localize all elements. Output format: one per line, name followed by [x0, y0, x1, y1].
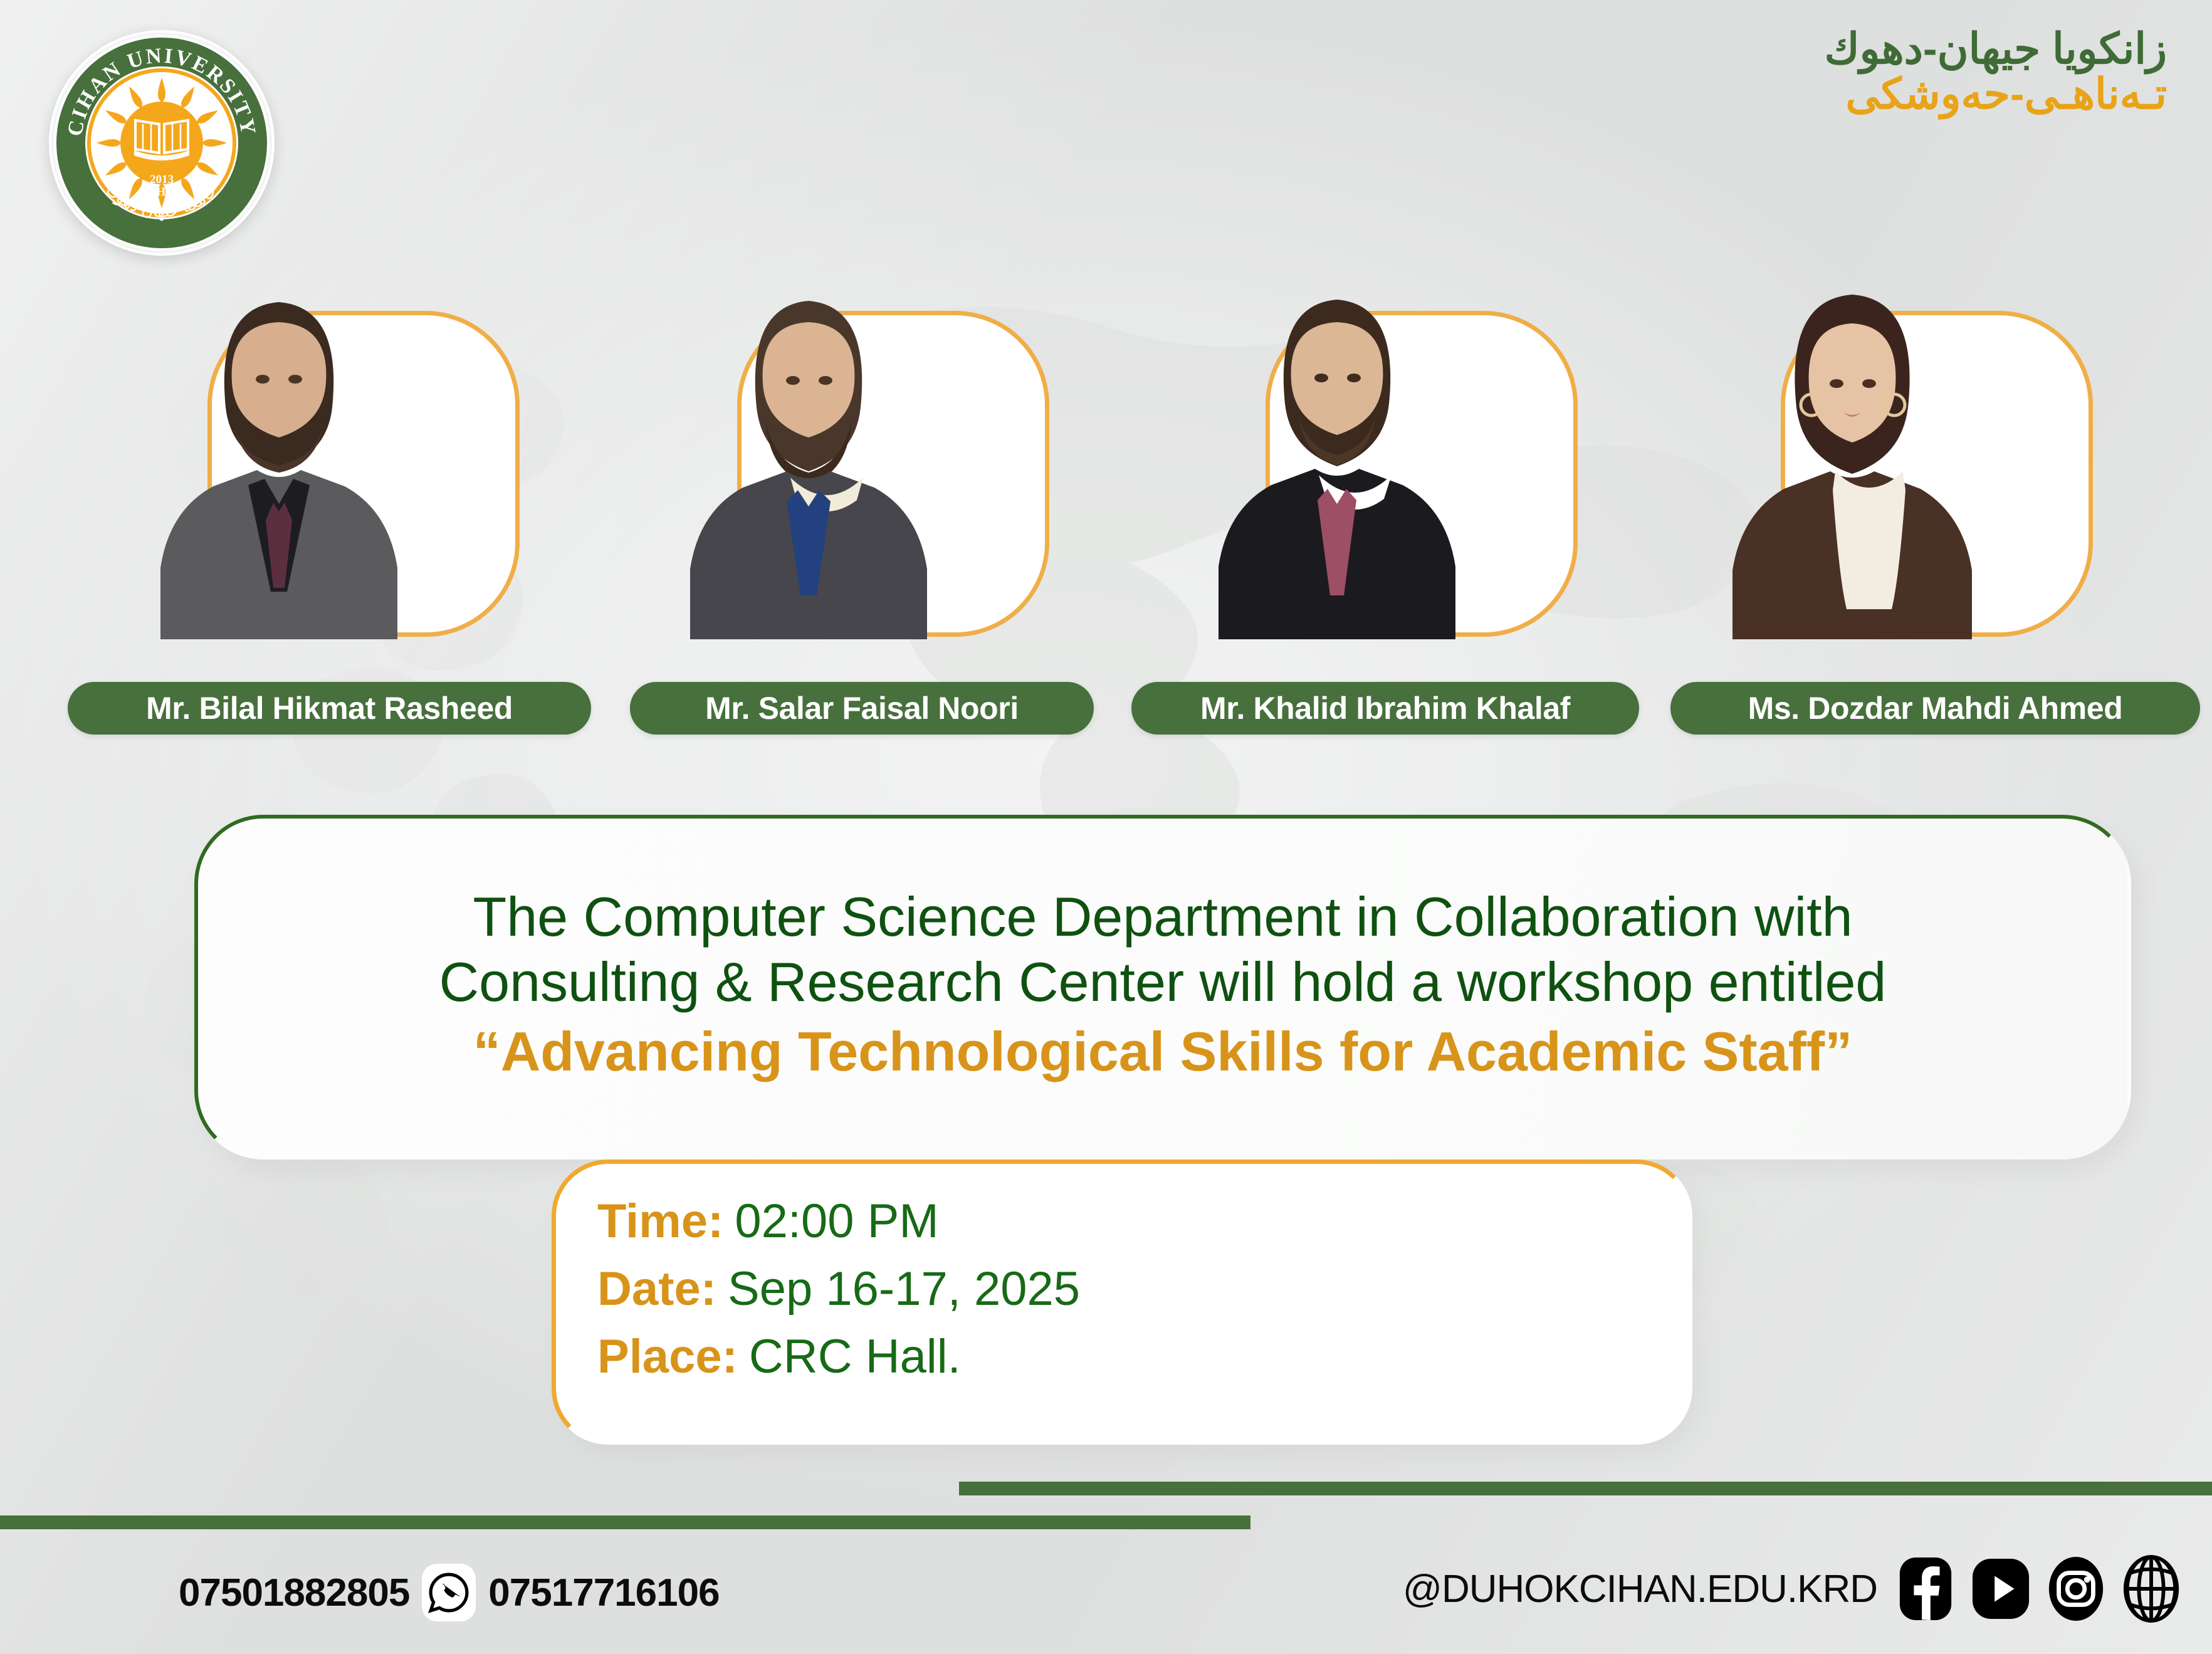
whatsapp-icon[interactable] — [422, 1564, 476, 1621]
speaker-portrait-1 — [119, 251, 608, 746]
event-details-card: Time: 02:00 PM Date: Sep 16-17, 2025 Pla… — [552, 1159, 1692, 1445]
logo-year: 2013 — [150, 173, 174, 186]
kurdish-line-1: زانكويا جيهان-دهوك — [1825, 26, 2167, 71]
phone-number-2[interactable]: 07517716106 — [488, 1571, 719, 1615]
kurdish-line-2: تـەناهـى-حەوشكى — [1825, 71, 2167, 117]
announcement-line-1: The Computer Science Department in Colla… — [473, 884, 1852, 950]
contact-phones: 07501882805 07517716106 — [179, 1564, 720, 1621]
time-label: Time: — [597, 1188, 723, 1255]
workshop-title: “Advancing Technological Skills for Acad… — [473, 1018, 1852, 1085]
detail-row-time: Time: 02:00 PM — [597, 1188, 1688, 1255]
portrait-image-salar — [636, 251, 968, 639]
divider-top-right — [959, 1482, 2212, 1495]
event-poster: CIHAN UNIVERSITY جامعة جيهان دهوك — [0, 0, 2212, 1654]
speaker-name-badge-1: Mr. Bilal Hikmat Rasheed — [68, 682, 591, 735]
place-label: Place: — [597, 1323, 738, 1391]
kurdish-heading: زانكويا جيهان-دهوك تـەناهـى-حەوشكى — [1825, 26, 2167, 117]
speaker-portrait-3 — [1177, 251, 1666, 746]
speakers-photo-row — [0, 251, 2212, 746]
detail-row-place: Place: CRC Hall. — [597, 1323, 1688, 1391]
website-globe-icon[interactable] — [2120, 1554, 2182, 1623]
announcement-card: The Computer Science Department in Colla… — [194, 815, 2131, 1159]
speaker-name-badge-4: Ms. Dozdar Mahdi Ahmed — [1670, 682, 2200, 735]
logo-city: DUHOK — [139, 186, 184, 199]
detail-row-date: Date: Sep 16-17, 2025 — [597, 1255, 1688, 1323]
youtube-icon[interactable] — [1970, 1554, 2031, 1623]
social-handle[interactable]: @DUHOKCIHAN.EDU.KRD — [1403, 1567, 1877, 1611]
speaker-portrait-4 — [1692, 251, 2181, 746]
announcement-line-2: Consulting & Research Center will hold a… — [439, 950, 1887, 1015]
speaker-portrait-2 — [649, 251, 1138, 746]
portrait-image-bilal — [107, 251, 439, 639]
university-logo: CIHAN UNIVERSITY جامعة جيهان دهوك — [49, 30, 275, 256]
time-value: 02:00 PM — [735, 1188, 938, 1255]
instagram-icon[interactable] — [2045, 1554, 2107, 1623]
portrait-image-dozdar — [1680, 251, 2012, 639]
date-label: Date: — [597, 1255, 716, 1323]
place-value: CRC Hall. — [749, 1323, 961, 1391]
divider-bottom-left — [0, 1515, 1250, 1529]
speaker-name-badge-2: Mr. Salar Faisal Noori — [630, 682, 1094, 735]
facebook-icon[interactable] — [1895, 1554, 1956, 1623]
speaker-name-badge-3: Mr. Khalid Ibrahim Khalaf — [1131, 682, 1639, 735]
phone-number-1[interactable]: 07501882805 — [179, 1571, 409, 1615]
portrait-image-khalid — [1165, 251, 1497, 639]
social-links-row: @DUHOKCIHAN.EDU.KRD — [1403, 1554, 2182, 1623]
date-value: Sep 16-17, 2025 — [728, 1255, 1080, 1323]
